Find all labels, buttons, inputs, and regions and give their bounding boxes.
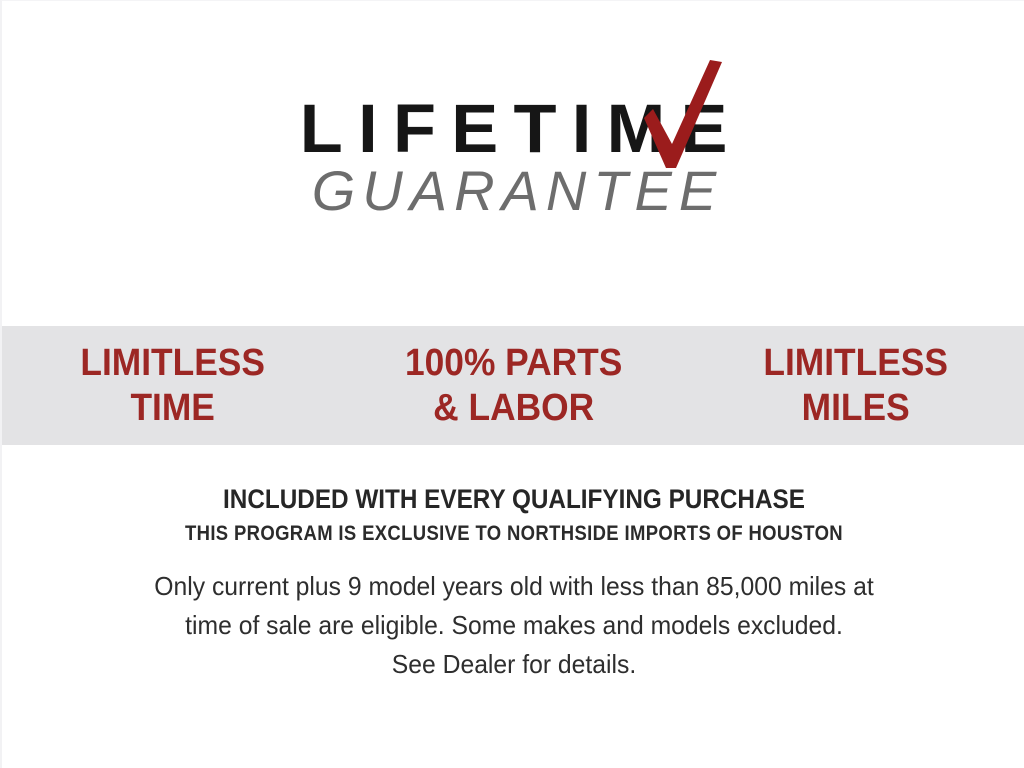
lifetime-guarantee-ad: LIFETIME GUARANTEE LIMITLESS TIME 100% P…: [0, 0, 1024, 768]
fineprint-block: Only current plus 9 model years old with…: [77, 567, 951, 684]
feature-column-limitless-miles: LIMITLESS MILES: [697, 341, 1014, 430]
feature-column-limitless-time: LIMITLESS TIME: [14, 341, 331, 430]
fineprint-line-3: See Dealer for details.: [77, 645, 951, 684]
feature-line-1: LIMITLESS: [80, 342, 265, 384]
feature-column-parts-labor: 100% PARTS & LABOR: [355, 341, 672, 430]
feature-line-2: MILES: [697, 386, 1014, 430]
fineprint-line-2: time of sale are eligible. Some makes an…: [77, 606, 951, 645]
feature-line-1: 100% PARTS: [405, 342, 622, 384]
feature-line-2: TIME: [14, 386, 331, 430]
logo-block: LIFETIME GUARANTEE: [2, 97, 1024, 220]
logo-lifetime-text: LIFETIME: [285, 97, 743, 160]
headline-included-with-purchase: INCLUDED WITH EVERY QUALIFYING PURCHASE: [53, 484, 975, 515]
logo-guarantee-text: GUARANTEE: [289, 162, 738, 219]
feature-line-2: & LABOR: [355, 386, 672, 430]
headline-program-exclusive: THIS PROGRAM IS EXCLUSIVE TO NORTHSIDE I…: [63, 522, 964, 546]
fineprint-line-1: Only current plus 9 model years old with…: [77, 567, 951, 606]
feature-banner: LIMITLESS TIME 100% PARTS & LABOR LIMITL…: [2, 326, 1024, 445]
logo-wordmark: LIFETIME GUARANTEE: [289, 97, 738, 220]
feature-line-1: LIMITLESS: [763, 342, 948, 384]
